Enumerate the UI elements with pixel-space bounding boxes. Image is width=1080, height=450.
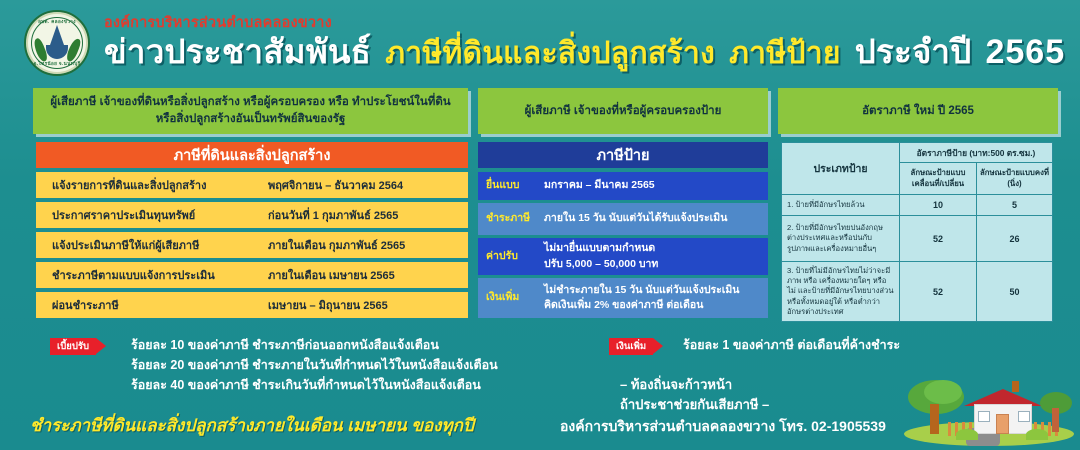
table-header-signboard-type: ประเภทป้าย <box>782 143 900 195</box>
rate-table-fixed-cell: 50 <box>977 262 1052 321</box>
penalty-line: ร้อยละ 20 ของค่าภาษี ชำระภายในวันที่กำหน… <box>131 356 498 376</box>
poster-header: อบต. คลองขวาง อ.ไทรน้อย จ.นนทบุรี องค์กา… <box>0 0 1080 84</box>
table-header-fixed: ลักษณะป้ายแบบคงที่ (นิ่ง) <box>977 163 1052 195</box>
rate-table-row: 1. ป้ายที่มีอักษรไทยล้วน105 <box>782 195 1052 216</box>
emblem-text-bottom: อ.ไทรน้อย จ.นนทบุรี <box>26 61 88 68</box>
signboard-tax-row-label: ยื่นแบบ <box>478 178 544 193</box>
title-for-year-label: ประจำปี <box>855 25 972 78</box>
title-land-building-tax: ภาษีที่ดินและสิ่งปลูกสร้าง <box>385 30 715 77</box>
signboard-tax-row-value: ภายใน 15 วัน นับแต่วันได้รับแจ้งประเมิน <box>544 211 768 226</box>
house-and-tree-scene-icon <box>900 368 1078 448</box>
land-tax-row-label: ชำระภาษีตามแบบแจ้งการประเมิน <box>36 266 268 284</box>
banner-new-rate: อัตราภาษี ใหม่ ปี 2565 <box>778 88 1058 134</box>
land-tax-row-label: ประกาศราคาประเมินทุนทรัพย์ <box>36 206 268 224</box>
signboard-tax-row: เงินเพิ่มไม่ชำระภายใน 15 วัน นับแต่วันแจ… <box>478 278 768 318</box>
signboard-tax-row: ยื่นแบบมกราคม – มีนาคม 2565 <box>478 172 768 200</box>
signboard-tax-row-value: ไม่ชำระภายใน 15 วัน นับแต่วันแจ้งประเมิน… <box>544 283 768 313</box>
land-tax-row: ผ่อนชำระภาษีเมษายน – มิถุนายน 2565 <box>36 292 468 318</box>
rate-table-type-cell: 3. ป้ายที่ไม่มีอักษรไทยไม่ว่าจะมีภาพ หรื… <box>782 262 900 321</box>
header-title-row: ข่าวประชาสัมพันธ์ ภาษีที่ดินและสิ่งปลูกส… <box>104 25 1065 78</box>
rate-table-movable-cell: 52 <box>900 262 977 321</box>
signboard-tax-row: ชำระภาษีภายใน 15 วัน นับแต่วันได้รับแจ้ง… <box>478 203 768 235</box>
rate-table-movable-cell: 52 <box>900 216 977 261</box>
rate-table-fixed-cell: 26 <box>977 216 1052 261</box>
banner-taxpayer-signboard: ผู้เสียภาษี เจ้าของที่หรือผู้ครอบครองป้า… <box>478 88 768 134</box>
land-tax-row-value: ภายในเดือน เมษายน 2565 <box>268 266 468 284</box>
table-header-movable: ลักษณะป้ายแบบเคลื่อนที่/เปลี่ยน <box>900 163 977 195</box>
signboard-tax-row-label: ชำระภาษี <box>478 211 544 226</box>
slogan-line-2: ถ้าประชาช่วยกันเสียภาษี – <box>620 395 769 415</box>
rate-table-row: 2. ป้ายที่มีอักษรไทยปนอังกฤษต่างประเทศแล… <box>782 216 1052 262</box>
poster-canvas: อบต. คลองขวาง อ.ไทรน้อย จ.นนทบุรี องค์กา… <box>0 0 1080 450</box>
rate-table-movable-cell: 10 <box>900 195 977 215</box>
penalty-line: ร้อยละ 10 ของค่าภาษี ชำระภาษีก่อนออกหนัง… <box>131 336 498 356</box>
title-year: 2565 <box>985 33 1065 72</box>
surcharge-tag: เงินเพิ่ม <box>609 338 653 355</box>
slogan-block: – ท้องถิ่นจะก้าวหน้า ถ้าประชาช่วยกันเสีย… <box>620 375 769 414</box>
rate-table-fixed-cell: 5 <box>977 195 1052 215</box>
land-tax-row: แจ้งรายการที่ดินและสิ่งปลูกสร้างพฤศจิกาย… <box>36 172 468 198</box>
signboard-tax-row: ค่าปรับไม่มายื่นแบบตามกำหนดปรับ 5,000 – … <box>478 238 768 275</box>
land-tax-row: ชำระภาษีตามแบบแจ้งการประเมินภายในเดือน เ… <box>36 262 468 288</box>
land-tax-row-label: ผ่อนชำระภาษี <box>36 296 268 314</box>
signboard-rate-table: ประเภทป้าย อัตราภาษีป้าย (บาท:500 ตร.ซม.… <box>781 142 1053 322</box>
surcharge-line: ร้อยละ 1 ของค่าภาษี ต่อเดือนที่ค้างชำระ <box>683 336 900 356</box>
penalty-lines: ร้อยละ 10 ของค่าภาษี ชำระภาษีก่อนออกหนัง… <box>131 336 498 395</box>
land-tax-row-value: เมษายน – มิถุนายน 2565 <box>268 296 468 314</box>
signboard-tax-row-value: มกราคม – มีนาคม 2565 <box>544 178 768 193</box>
surcharge-lines: ร้อยละ 1 ของค่าภาษี ต่อเดือนที่ค้างชำระ <box>683 336 900 356</box>
page-title: ข่าวประชาสัมพันธ์ <box>104 25 371 78</box>
table-header-rate: อัตราภาษีป้าย (บาท:500 ตร.ซม.) <box>900 143 1052 163</box>
land-tax-title: ภาษีที่ดินและสิ่งปลูกสร้าง <box>36 142 468 168</box>
land-tax-row-value: ก่อนวันที่ 1 กุมภาพันธ์ 2565 <box>268 206 468 224</box>
signboard-tax-row-label: ค่าปรับ <box>478 249 544 264</box>
land-tax-row: แจ้งประเมินภาษีให้แก่ผู้เสียภาษีภายในเดื… <box>36 232 468 258</box>
rate-table-row: 3. ป้ายที่ไม่มีอักษรไทยไม่ว่าจะมีภาพ หรื… <box>782 262 1052 321</box>
land-tax-row-label: แจ้งรายการที่ดินและสิ่งปลูกสร้าง <box>36 176 268 194</box>
penalty-tag: เบี้ยปรับ <box>50 338 96 355</box>
signboard-tax-row-value: ไม่มายื่นแบบตามกำหนดปรับ 5,000 – 50,000 … <box>544 241 768 271</box>
footer-contact-text: องค์การบริหารส่วนตำบลคลองขวาง โทร. 02-19… <box>560 416 886 438</box>
emblem-seal-icon: อบต. คลองขวาง อ.ไทรน้อย จ.นนทบุรี <box>24 10 90 76</box>
land-tax-row-value: พฤศจิกายน – ธันวาคม 2564 <box>268 176 468 194</box>
land-tax-row-value: ภายในเดือน กุมภาพันธ์ 2565 <box>268 236 468 254</box>
rate-table-type-cell: 1. ป้ายที่มีอักษรไทยล้วน <box>782 195 900 215</box>
title-signboard-tax: ภาษีป้าย <box>729 30 841 77</box>
land-tax-row: ประกาศราคาประเมินทุนทรัพย์ก่อนวันที่ 1 ก… <box>36 202 468 228</box>
land-tax-row-label: แจ้งประเมินภาษีให้แก่ผู้เสียภาษี <box>36 236 268 254</box>
footer-deadline-text: ชำระภาษีที่ดินและสิ่งปลูกสร้างภายในเดือน… <box>30 412 474 439</box>
signboard-tax-row-label: เงินเพิ่ม <box>478 290 544 305</box>
signboard-tax-title: ภาษีป้าย <box>478 142 768 168</box>
rate-table-type-cell: 2. ป้ายที่มีอักษรไทยปนอังกฤษต่างประเทศแล… <box>782 216 900 261</box>
slogan-line-1: – ท้องถิ่นจะก้าวหน้า <box>620 375 769 395</box>
banner-taxpayer-land: ผู้เสียภาษี เจ้าของที่ดินหรือสิ่งปลูกสร้… <box>33 88 468 134</box>
penalty-line: ร้อยละ 40 ของค่าภาษี ชำระเกินวันที่กำหนด… <box>131 376 498 396</box>
